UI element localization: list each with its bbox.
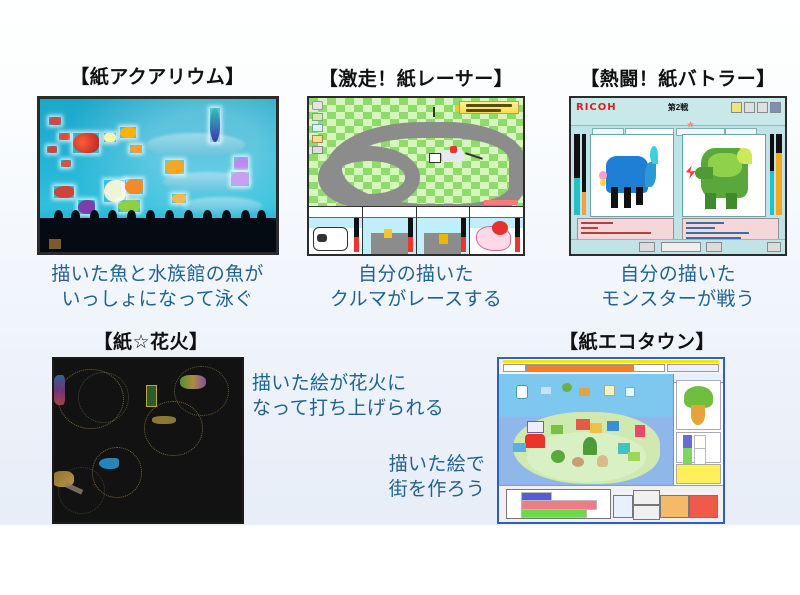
battler-footer <box>571 239 785 254</box>
ecotown-red-button[interactable] <box>689 495 718 518</box>
battler-header: RICOH 第2戦 <box>571 98 785 126</box>
ecotown-bottom-bar <box>499 485 723 522</box>
hp-bar-left-2 <box>582 134 586 215</box>
header-icon-4[interactable] <box>770 102 781 113</box>
panel-caption-racer: 自分の描いた クルマがレースする <box>300 262 532 312</box>
paper-racer-screenshot <box>307 96 525 256</box>
paper-aquarium-screenshot <box>37 96 279 255</box>
ecotown-side-panel <box>673 374 723 486</box>
ecotown-menu-button-1[interactable] <box>633 490 660 505</box>
panel-title-racer: 【激走！紙レーサー】 <box>305 64 527 91</box>
panel-title-battler: 【熱闘！紙バトラー】 <box>567 64 789 91</box>
header-icon-1[interactable] <box>731 102 742 113</box>
slide-canvas: 【紙アクアリウム】 描いた魚と水族館の魚が いっしょになって泳ぐ <box>0 0 800 595</box>
racer-toolbar[interactable] <box>312 101 323 154</box>
ecotown-topbar <box>499 359 723 375</box>
round-label: 第2戦 <box>668 102 688 113</box>
monster-card-right <box>682 134 765 217</box>
racer-menu-button[interactable] <box>312 101 323 110</box>
paper-fireworks-screenshot <box>52 357 244 524</box>
ecotown-world-view <box>499 374 674 486</box>
panel-title-aquarium: 【紙アクアリウム】 <box>35 62 280 89</box>
paper-ecotown-screenshot <box>497 357 725 524</box>
panel-caption-aquarium: 描いた魚と水族館の魚が いっしょになって泳ぐ <box>20 262 295 312</box>
panel-title-fireworks: 【紙☆花火】 <box>58 327 244 354</box>
ecotown-avatar-button[interactable] <box>613 495 633 518</box>
battler-prev-button[interactable] <box>639 242 655 252</box>
battler-action-button[interactable] <box>661 242 701 252</box>
racer-split-view <box>417 207 471 254</box>
eco-progress-gauge <box>526 364 665 372</box>
ricoh-logo: RICOH <box>576 102 617 113</box>
race-track-area <box>309 98 523 207</box>
racer-split-views <box>309 206 523 254</box>
header-icon-3[interactable] <box>757 102 768 113</box>
ecotown-meters <box>506 489 611 519</box>
racer-status-banner <box>459 101 519 114</box>
hp-bar-left <box>574 134 580 215</box>
battler-next-button[interactable] <box>706 242 722 252</box>
panel-title-ecotown: 【紙エコタウン】 <box>540 327 734 354</box>
hp-bar-right-2 <box>776 134 782 215</box>
header-icon-2[interactable] <box>744 102 755 113</box>
paper-battler-screenshot: RICOH 第2戦 <box>569 96 787 256</box>
monster-card-left <box>590 134 673 217</box>
hp-bar-right <box>770 134 774 215</box>
racer-split-view <box>363 207 417 254</box>
ecotown-menu-button-2[interactable] <box>633 505 660 520</box>
racer-split-view <box>309 207 363 254</box>
battler-header-buttons[interactable] <box>731 102 781 113</box>
panel-caption-battler: 自分の描いた モンスターが戦う <box>562 262 794 312</box>
racer-split-view <box>470 207 523 254</box>
ecotown-preview-image <box>676 380 721 429</box>
panel-caption-ecotown: 描いた絵で 街を作ろう <box>373 452 501 502</box>
battler-exit-button[interactable] <box>767 242 781 252</box>
panel-caption-fireworks: 描いた絵が花火に なって打ち上げられる <box>252 371 468 421</box>
ecotown-resource-grid <box>676 432 721 463</box>
ecotown-orange-button[interactable] <box>660 495 689 518</box>
